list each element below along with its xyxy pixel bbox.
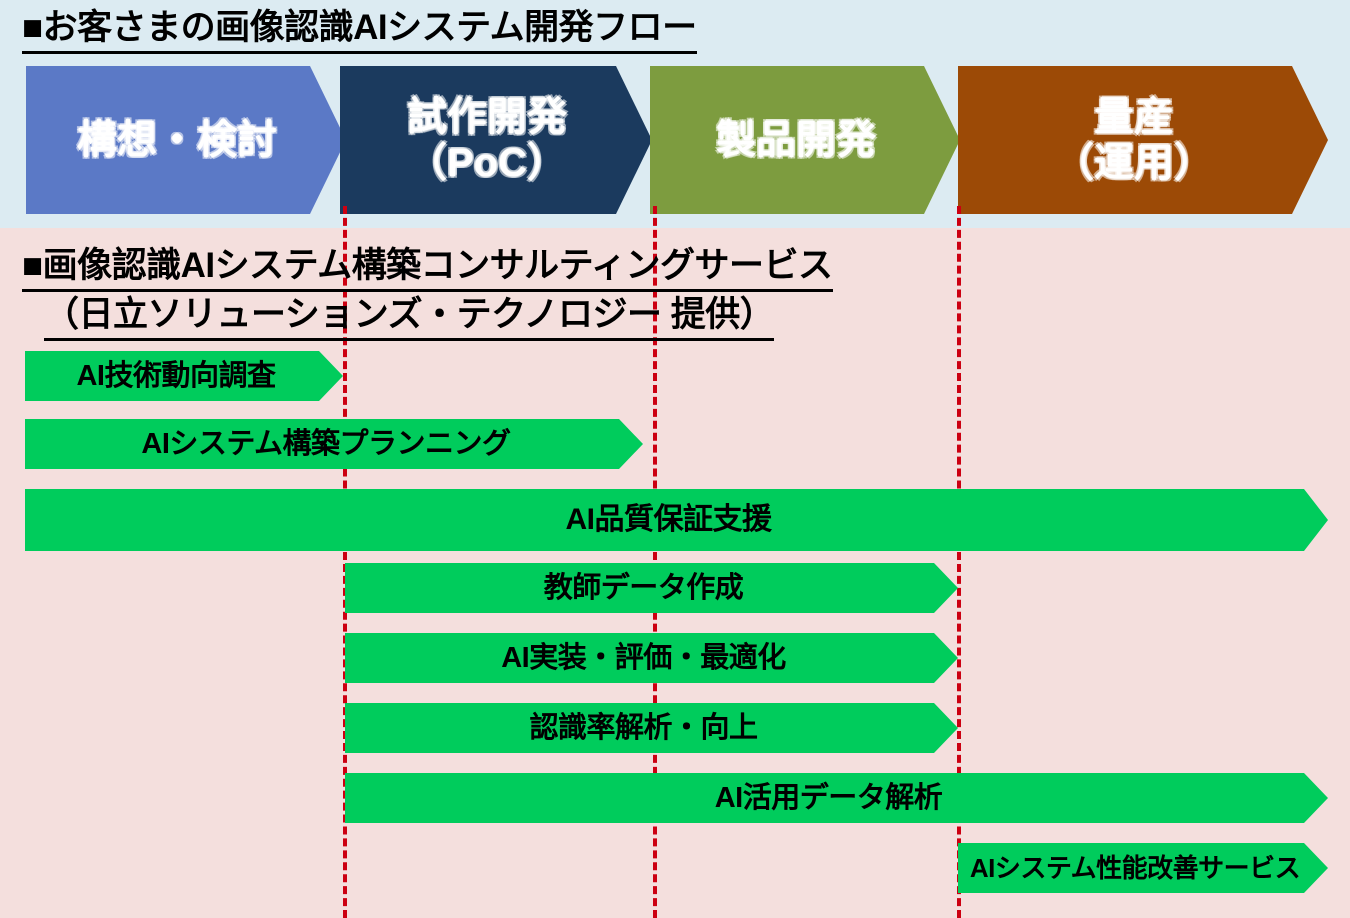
flow-section-heading: ■お客さまの画像認識AIシステム開発フロー [22,6,697,54]
phase-label-product-development: 製品開発 [716,117,894,163]
phase-label-mass-production: 量産 （運用） [1054,94,1232,186]
phase-arrow-poc[interactable]: 試作開発 （PoC） [340,66,652,214]
phase-arrow-concept[interactable]: 構想・検討 [26,66,346,214]
consulting-section-heading: ■画像認識AIシステム構築コンサルティングサービス （日立ソリューションズ・テク… [22,243,833,341]
service-bar-ai-tech-trend-survey[interactable]: AI技術動向調査 [25,351,343,401]
service-bar-ai-implementation-evaluation[interactable]: AI実装・評価・最適化 [345,633,958,683]
service-bar-ai-quality-assurance[interactable]: AI品質保証支援 [25,489,1328,551]
service-label-ai-system-planning: AIシステム構築プランニング [141,428,526,460]
service-label-recognition-rate-analysis: 認識率解析・向上 [529,712,773,744]
phase-arrow-mass-production[interactable]: 量産 （運用） [958,66,1328,214]
phase-label-poc-line1: 試作開発 [407,95,567,139]
service-bar-ai-system-planning[interactable]: AIシステム構築プランニング [25,419,643,469]
phase-label-mass-production-line2: （運用） [1054,141,1214,185]
service-bar-ai-data-analysis[interactable]: AI活用データ解析 [345,773,1328,823]
service-label-ai-tech-trend-survey: AI技術動向調査 [76,360,291,392]
consulting-heading-line2: （日立ソリューションズ・テクノロジー 提供） [44,292,774,341]
phase-label-mass-production-line1: 量産 [1094,95,1174,139]
phase-label-poc: 試作開発 （PoC） [407,94,585,186]
service-label-training-data-creation: 教師データ作成 [544,572,760,604]
phase-label-poc-line2: （PoC） [407,141,567,185]
service-label-ai-data-analysis: AI活用データ解析 [715,782,959,814]
phase-arrow-product-development[interactable]: 製品開発 [650,66,960,214]
phase-label-concept: 構想・検討 [77,117,295,163]
service-bar-training-data-creation[interactable]: 教師データ作成 [345,563,958,613]
service-label-ai-quality-assurance: AI品質保証支援 [566,504,788,536]
service-bar-recognition-rate-analysis[interactable]: 認識率解析・向上 [345,703,958,753]
consulting-heading-line1: ■画像認識AIシステム構築コンサルティングサービス [22,243,833,292]
service-label-ai-implementation-evaluation: AI実装・評価・最適化 [501,642,802,674]
service-bar-ai-performance-improvement[interactable]: AIシステム性能改善サービス [958,843,1328,893]
service-label-ai-performance-improvement: AIシステム性能改善サービス [970,852,1316,884]
slide-canvas: ■お客さまの画像認識AIシステム開発フロー 構想・検討 試作開発 （PoC） 製… [0,0,1350,918]
